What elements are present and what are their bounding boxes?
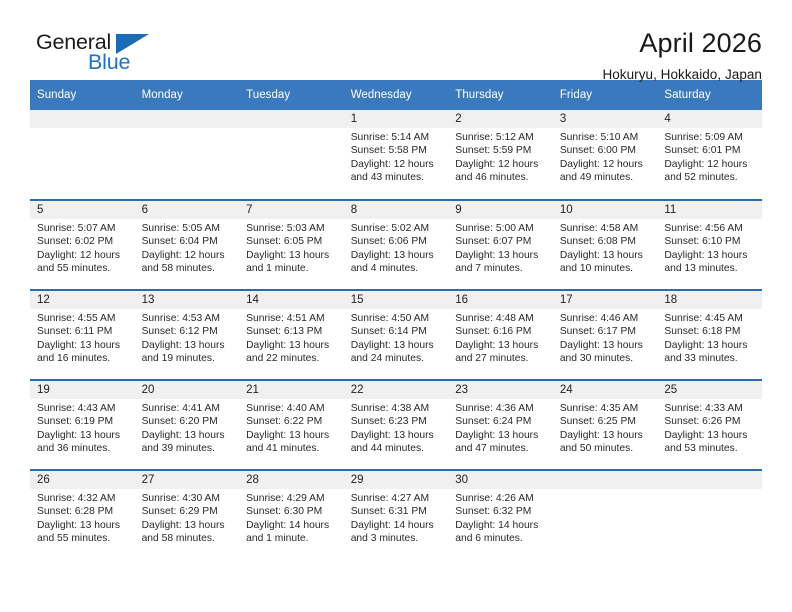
day-details: Sunrise: 4:36 AMSunset: 6:24 PMDaylight:… — [448, 399, 553, 456]
day-details: Sunrise: 4:32 AMSunset: 6:28 PMDaylight:… — [30, 489, 135, 546]
weekday-header-saturday: Saturday — [657, 80, 762, 110]
calendar-day-cell[interactable]: 29Sunrise: 4:27 AMSunset: 6:31 PMDayligh… — [344, 470, 449, 560]
daylight-text-line1: Daylight: 13 hours — [455, 429, 547, 442]
daylight-text-line2: and 10 minutes. — [560, 262, 652, 275]
calendar-week-row: 5Sunrise: 5:07 AMSunset: 6:02 PMDaylight… — [30, 200, 762, 290]
day-number: 10 — [553, 201, 658, 219]
sunrise-text: Sunrise: 4:53 AM — [142, 312, 234, 325]
daylight-text-line1: Daylight: 13 hours — [560, 339, 652, 352]
daylight-text-line2: and 19 minutes. — [142, 352, 234, 365]
sunrise-text: Sunrise: 4:29 AM — [246, 492, 338, 505]
daylight-text-line1: Daylight: 13 hours — [560, 429, 652, 442]
day-number: 19 — [30, 381, 135, 399]
day-number: 2 — [448, 110, 553, 128]
calendar-day-cell[interactable]: 26Sunrise: 4:32 AMSunset: 6:28 PMDayligh… — [30, 470, 135, 560]
daylight-text-line2: and 53 minutes. — [664, 442, 756, 455]
calendar-week-row: 19Sunrise: 4:43 AMSunset: 6:19 PMDayligh… — [30, 380, 762, 470]
daylight-text-line1: Daylight: 12 hours — [37, 249, 129, 262]
daylight-text-line2: and 58 minutes. — [142, 532, 234, 545]
day-number: 9 — [448, 201, 553, 219]
daylight-text-line1: Daylight: 13 hours — [246, 339, 338, 352]
sunset-text: Sunset: 6:05 PM — [246, 235, 338, 248]
daylight-text-line1: Daylight: 14 hours — [246, 519, 338, 532]
daylight-text-line2: and 58 minutes. — [142, 262, 234, 275]
day-number: 22 — [344, 381, 449, 399]
sunrise-text: Sunrise: 4:41 AM — [142, 402, 234, 415]
sunrise-text: Sunrise: 4:56 AM — [664, 222, 756, 235]
calendar-week-row: 12Sunrise: 4:55 AMSunset: 6:11 PMDayligh… — [30, 290, 762, 380]
daylight-text-line2: and 36 minutes. — [37, 442, 129, 455]
sunset-text: Sunset: 6:19 PM — [37, 415, 129, 428]
sunrise-text: Sunrise: 5:05 AM — [142, 222, 234, 235]
day-details: Sunrise: 5:00 AMSunset: 6:07 PMDaylight:… — [448, 219, 553, 276]
daylight-text-line2: and 24 minutes. — [351, 352, 443, 365]
weekday-header-wednesday: Wednesday — [344, 80, 449, 110]
day-details: Sunrise: 5:09 AMSunset: 6:01 PMDaylight:… — [657, 128, 762, 185]
sunrise-text: Sunrise: 5:02 AM — [351, 222, 443, 235]
day-number: 27 — [135, 471, 240, 489]
calendar-header-row: Sunday Monday Tuesday Wednesday Thursday… — [30, 80, 762, 110]
calendar-day-cell[interactable]: 8Sunrise: 5:02 AMSunset: 6:06 PMDaylight… — [344, 200, 449, 290]
daylight-text-line1: Daylight: 13 hours — [664, 339, 756, 352]
weekday-header-sunday: Sunday — [30, 80, 135, 110]
sunset-text: Sunset: 6:12 PM — [142, 325, 234, 338]
daylight-text-line2: and 3 minutes. — [351, 532, 443, 545]
day-details: Sunrise: 4:33 AMSunset: 6:26 PMDaylight:… — [657, 399, 762, 456]
sunset-text: Sunset: 5:59 PM — [455, 144, 547, 157]
daylight-text-line2: and 33 minutes. — [664, 352, 756, 365]
sunset-text: Sunset: 6:20 PM — [142, 415, 234, 428]
sunrise-text: Sunrise: 5:12 AM — [455, 131, 547, 144]
calendar-day-cell-empty — [239, 110, 344, 200]
calendar-day-cell-empty — [553, 470, 658, 560]
day-details: Sunrise: 4:30 AMSunset: 6:29 PMDaylight:… — [135, 489, 240, 546]
sunset-text: Sunset: 6:30 PM — [246, 505, 338, 518]
day-details: Sunrise: 4:27 AMSunset: 6:31 PMDaylight:… — [344, 489, 449, 546]
day-details: Sunrise: 4:51 AMSunset: 6:13 PMDaylight:… — [239, 309, 344, 366]
calendar-day-cell[interactable]: 9Sunrise: 5:00 AMSunset: 6:07 PMDaylight… — [448, 200, 553, 290]
calendar-day-cell[interactable]: 4Sunrise: 5:09 AMSunset: 6:01 PMDaylight… — [657, 110, 762, 200]
sunrise-text: Sunrise: 4:55 AM — [37, 312, 129, 325]
sunrise-text: Sunrise: 5:14 AM — [351, 131, 443, 144]
sunset-text: Sunset: 6:06 PM — [351, 235, 443, 248]
daylight-text-line1: Daylight: 13 hours — [664, 429, 756, 442]
sunset-text: Sunset: 6:04 PM — [142, 235, 234, 248]
daylight-text-line1: Daylight: 13 hours — [37, 429, 129, 442]
daylight-text-line1: Daylight: 13 hours — [142, 519, 234, 532]
daylight-text-line1: Daylight: 13 hours — [37, 519, 129, 532]
day-number: 13 — [135, 291, 240, 309]
day-details: Sunrise: 4:29 AMSunset: 6:30 PMDaylight:… — [239, 489, 344, 546]
sunrise-text: Sunrise: 4:48 AM — [455, 312, 547, 325]
calendar-day-cell[interactable]: 27Sunrise: 4:30 AMSunset: 6:29 PMDayligh… — [135, 470, 240, 560]
day-number: 6 — [135, 201, 240, 219]
day-details: Sunrise: 4:55 AMSunset: 6:11 PMDaylight:… — [30, 309, 135, 366]
daylight-text-line1: Daylight: 14 hours — [455, 519, 547, 532]
location-subtitle: Hokuryu, Hokkaido, Japan — [602, 67, 762, 82]
daylight-text-line1: Daylight: 12 hours — [455, 158, 547, 171]
sunset-text: Sunset: 6:01 PM — [664, 144, 756, 157]
daylight-text-line1: Daylight: 14 hours — [351, 519, 443, 532]
calendar-table: Sunday Monday Tuesday Wednesday Thursday… — [30, 80, 762, 560]
daylight-text-line2: and 44 minutes. — [351, 442, 443, 455]
day-details: Sunrise: 4:41 AMSunset: 6:20 PMDaylight:… — [135, 399, 240, 456]
weekday-header-friday: Friday — [553, 80, 658, 110]
calendar-day-cell[interactable]: 24Sunrise: 4:35 AMSunset: 6:25 PMDayligh… — [553, 380, 658, 470]
daylight-text-line1: Daylight: 13 hours — [455, 249, 547, 262]
daylight-text-line1: Daylight: 13 hours — [351, 339, 443, 352]
sunset-text: Sunset: 6:31 PM — [351, 505, 443, 518]
day-number: 30 — [448, 471, 553, 489]
day-details: Sunrise: 4:40 AMSunset: 6:22 PMDaylight:… — [239, 399, 344, 456]
calendar-day-cell[interactable]: 18Sunrise: 4:45 AMSunset: 6:18 PMDayligh… — [657, 290, 762, 380]
calendar-day-cell[interactable]: 10Sunrise: 4:58 AMSunset: 6:08 PMDayligh… — [553, 200, 658, 290]
calendar-week-row: 26Sunrise: 4:32 AMSunset: 6:28 PMDayligh… — [30, 470, 762, 560]
sunrise-text: Sunrise: 4:33 AM — [664, 402, 756, 415]
sunset-text: Sunset: 6:18 PM — [664, 325, 756, 338]
day-number: 26 — [30, 471, 135, 489]
day-number: 8 — [344, 201, 449, 219]
day-number: 29 — [344, 471, 449, 489]
daylight-text-line1: Daylight: 13 hours — [142, 339, 234, 352]
weekday-header-tuesday: Tuesday — [239, 80, 344, 110]
daylight-text-line1: Daylight: 12 hours — [560, 158, 652, 171]
sunrise-text: Sunrise: 5:03 AM — [246, 222, 338, 235]
sunset-text: Sunset: 6:26 PM — [664, 415, 756, 428]
day-number: 5 — [30, 201, 135, 219]
sunrise-text: Sunrise: 4:26 AM — [455, 492, 547, 505]
day-number: 21 — [239, 381, 344, 399]
sunset-text: Sunset: 6:14 PM — [351, 325, 443, 338]
calendar-day-cell-empty — [30, 110, 135, 200]
daylight-text-line1: Daylight: 13 hours — [246, 429, 338, 442]
daylight-text-line2: and 55 minutes. — [37, 262, 129, 275]
daylight-text-line2: and 50 minutes. — [560, 442, 652, 455]
day-number: 14 — [239, 291, 344, 309]
calendar-day-cell[interactable]: 12Sunrise: 4:55 AMSunset: 6:11 PMDayligh… — [30, 290, 135, 380]
calendar-day-cell[interactable]: 14Sunrise: 4:51 AMSunset: 6:13 PMDayligh… — [239, 290, 344, 380]
daylight-text-line2: and 27 minutes. — [455, 352, 547, 365]
daylight-text-line2: and 7 minutes. — [455, 262, 547, 275]
calendar-day-cell[interactable]: 13Sunrise: 4:53 AMSunset: 6:12 PMDayligh… — [135, 290, 240, 380]
daylight-text-line2: and 16 minutes. — [37, 352, 129, 365]
daylight-text-line2: and 4 minutes. — [351, 262, 443, 275]
calendar-day-cell[interactable]: 28Sunrise: 4:29 AMSunset: 6:30 PMDayligh… — [239, 470, 344, 560]
calendar-day-cell[interactable]: 23Sunrise: 4:36 AMSunset: 6:24 PMDayligh… — [448, 380, 553, 470]
day-number: 17 — [553, 291, 658, 309]
sunrise-text: Sunrise: 5:10 AM — [560, 131, 652, 144]
sunset-text: Sunset: 6:25 PM — [560, 415, 652, 428]
sunrise-text: Sunrise: 4:36 AM — [455, 402, 547, 415]
sunset-text: Sunset: 6:28 PM — [37, 505, 129, 518]
day-details: Sunrise: 4:45 AMSunset: 6:18 PMDaylight:… — [657, 309, 762, 366]
sunrise-text: Sunrise: 4:50 AM — [351, 312, 443, 325]
title-block: April 2026 Hokuryu, Hokkaido, Japan — [602, 28, 762, 82]
day-number: 1 — [344, 110, 449, 128]
day-number: 28 — [239, 471, 344, 489]
brand-name-blue: Blue — [88, 50, 130, 75]
daylight-text-line2: and 1 minute. — [246, 532, 338, 545]
day-number: 18 — [657, 291, 762, 309]
day-details: Sunrise: 4:53 AMSunset: 6:12 PMDaylight:… — [135, 309, 240, 366]
day-number — [553, 471, 658, 489]
sunset-text: Sunset: 6:32 PM — [455, 505, 547, 518]
sunset-text: Sunset: 6:16 PM — [455, 325, 547, 338]
day-details: Sunrise: 4:50 AMSunset: 6:14 PMDaylight:… — [344, 309, 449, 366]
day-number: 25 — [657, 381, 762, 399]
daylight-text-line1: Daylight: 12 hours — [664, 158, 756, 171]
sunrise-text: Sunrise: 4:38 AM — [351, 402, 443, 415]
calendar-week-row: 1Sunrise: 5:14 AMSunset: 5:58 PMDaylight… — [30, 110, 762, 200]
daylight-text-line1: Daylight: 13 hours — [664, 249, 756, 262]
daylight-text-line2: and 49 minutes. — [560, 171, 652, 184]
calendar-day-cell[interactable]: 21Sunrise: 4:40 AMSunset: 6:22 PMDayligh… — [239, 380, 344, 470]
calendar-day-cell[interactable]: 19Sunrise: 4:43 AMSunset: 6:19 PMDayligh… — [30, 380, 135, 470]
daylight-text-line1: Daylight: 12 hours — [351, 158, 443, 171]
sunrise-text: Sunrise: 4:40 AM — [246, 402, 338, 415]
daylight-text-line1: Daylight: 13 hours — [351, 429, 443, 442]
sunrise-text: Sunrise: 4:51 AM — [246, 312, 338, 325]
daylight-text-line2: and 47 minutes. — [455, 442, 547, 455]
day-details: Sunrise: 5:03 AMSunset: 6:05 PMDaylight:… — [239, 219, 344, 276]
day-details: Sunrise: 4:38 AMSunset: 6:23 PMDaylight:… — [344, 399, 449, 456]
calendar-day-cell[interactable]: 16Sunrise: 4:48 AMSunset: 6:16 PMDayligh… — [448, 290, 553, 380]
calendar-day-cell[interactable]: 1Sunrise: 5:14 AMSunset: 5:58 PMDaylight… — [344, 110, 449, 200]
calendar-day-cell[interactable]: 11Sunrise: 4:56 AMSunset: 6:10 PMDayligh… — [657, 200, 762, 290]
sunrise-text: Sunrise: 4:46 AM — [560, 312, 652, 325]
daylight-text-line2: and 30 minutes. — [560, 352, 652, 365]
daylight-text-line1: Daylight: 13 hours — [560, 249, 652, 262]
sunset-text: Sunset: 6:24 PM — [455, 415, 547, 428]
sunset-text: Sunset: 6:13 PM — [246, 325, 338, 338]
daylight-text-line2: and 1 minute. — [246, 262, 338, 275]
day-number: 7 — [239, 201, 344, 219]
day-number: 20 — [135, 381, 240, 399]
day-details: Sunrise: 4:58 AMSunset: 6:08 PMDaylight:… — [553, 219, 658, 276]
daylight-text-line1: Daylight: 13 hours — [142, 429, 234, 442]
daylight-text-line2: and 55 minutes. — [37, 532, 129, 545]
day-number: 24 — [553, 381, 658, 399]
sunset-text: Sunset: 5:58 PM — [351, 144, 443, 157]
weekday-header-monday: Monday — [135, 80, 240, 110]
daylight-text-line2: and 13 minutes. — [664, 262, 756, 275]
daylight-text-line2: and 41 minutes. — [246, 442, 338, 455]
page-title: April 2026 — [602, 28, 762, 58]
day-number: 4 — [657, 110, 762, 128]
day-number — [30, 110, 135, 128]
day-details: Sunrise: 4:26 AMSunset: 6:32 PMDaylight:… — [448, 489, 553, 546]
sunset-text: Sunset: 6:23 PM — [351, 415, 443, 428]
calendar-day-cell[interactable]: 2Sunrise: 5:12 AMSunset: 5:59 PMDaylight… — [448, 110, 553, 200]
day-details: Sunrise: 5:05 AMSunset: 6:04 PMDaylight:… — [135, 219, 240, 276]
sunrise-text: Sunrise: 4:30 AM — [142, 492, 234, 505]
calendar-day-cell[interactable]: 17Sunrise: 4:46 AMSunset: 6:17 PMDayligh… — [553, 290, 658, 380]
daylight-text-line1: Daylight: 13 hours — [37, 339, 129, 352]
sunrise-text: Sunrise: 4:45 AM — [664, 312, 756, 325]
day-number: 11 — [657, 201, 762, 219]
calendar-day-cell[interactable]: 3Sunrise: 5:10 AMSunset: 6:00 PMDaylight… — [553, 110, 658, 200]
sunrise-text: Sunrise: 5:09 AM — [664, 131, 756, 144]
day-number: 3 — [553, 110, 658, 128]
sunset-text: Sunset: 6:22 PM — [246, 415, 338, 428]
daylight-text-line2: and 43 minutes. — [351, 171, 443, 184]
day-details: Sunrise: 5:10 AMSunset: 6:00 PMDaylight:… — [553, 128, 658, 185]
sunrise-text: Sunrise: 4:27 AM — [351, 492, 443, 505]
daylight-text-line2: and 6 minutes. — [455, 532, 547, 545]
calendar-day-cell-empty — [657, 470, 762, 560]
page-header: General Blue April 2026 Hokuryu, Hokkaid… — [30, 0, 762, 68]
daylight-text-line1: Daylight: 13 hours — [246, 249, 338, 262]
day-details: Sunrise: 5:02 AMSunset: 6:06 PMDaylight:… — [344, 219, 449, 276]
day-details: Sunrise: 5:12 AMSunset: 5:59 PMDaylight:… — [448, 128, 553, 185]
daylight-text-line2: and 46 minutes. — [455, 171, 547, 184]
calendar-body: 1Sunrise: 5:14 AMSunset: 5:58 PMDaylight… — [30, 110, 762, 560]
calendar-day-cell[interactable]: 15Sunrise: 4:50 AMSunset: 6:14 PMDayligh… — [344, 290, 449, 380]
sunset-text: Sunset: 6:11 PM — [37, 325, 129, 338]
weekday-header-thursday: Thursday — [448, 80, 553, 110]
sunset-text: Sunset: 6:08 PM — [560, 235, 652, 248]
daylight-text-line1: Daylight: 13 hours — [455, 339, 547, 352]
day-number — [239, 110, 344, 128]
daylight-text-line1: Daylight: 12 hours — [142, 249, 234, 262]
sunset-text: Sunset: 6:00 PM — [560, 144, 652, 157]
calendar-day-cell[interactable]: 22Sunrise: 4:38 AMSunset: 6:23 PMDayligh… — [344, 380, 449, 470]
day-number: 16 — [448, 291, 553, 309]
sunset-text: Sunset: 6:02 PM — [37, 235, 129, 248]
daylight-text-line2: and 22 minutes. — [246, 352, 338, 365]
brand-logo[interactable]: General Blue — [30, 28, 160, 80]
day-number: 23 — [448, 381, 553, 399]
sunrise-text: Sunrise: 5:00 AM — [455, 222, 547, 235]
day-details: Sunrise: 4:35 AMSunset: 6:25 PMDaylight:… — [553, 399, 658, 456]
sunrise-text: Sunrise: 4:32 AM — [37, 492, 129, 505]
calendar-day-cell-empty — [135, 110, 240, 200]
day-details: Sunrise: 4:56 AMSunset: 6:10 PMDaylight:… — [657, 219, 762, 276]
calendar-day-cell[interactable]: 7Sunrise: 5:03 AMSunset: 6:05 PMDaylight… — [239, 200, 344, 290]
sunrise-text: Sunrise: 5:07 AM — [37, 222, 129, 235]
sunset-text: Sunset: 6:17 PM — [560, 325, 652, 338]
day-number — [135, 110, 240, 128]
daylight-text-line2: and 52 minutes. — [664, 171, 756, 184]
daylight-text-line1: Daylight: 13 hours — [351, 249, 443, 262]
day-details: Sunrise: 4:48 AMSunset: 6:16 PMDaylight:… — [448, 309, 553, 366]
calendar-container: Sunday Monday Tuesday Wednesday Thursday… — [30, 80, 762, 560]
sunset-text: Sunset: 6:29 PM — [142, 505, 234, 518]
sunset-text: Sunset: 6:10 PM — [664, 235, 756, 248]
calendar-day-cell[interactable]: 30Sunrise: 4:26 AMSunset: 6:32 PMDayligh… — [448, 470, 553, 560]
calendar-day-cell[interactable]: 20Sunrise: 4:41 AMSunset: 6:20 PMDayligh… — [135, 380, 240, 470]
day-details: Sunrise: 4:46 AMSunset: 6:17 PMDaylight:… — [553, 309, 658, 366]
calendar-day-cell[interactable]: 5Sunrise: 5:07 AMSunset: 6:02 PMDaylight… — [30, 200, 135, 290]
daylight-text-line2: and 39 minutes. — [142, 442, 234, 455]
day-number: 12 — [30, 291, 135, 309]
day-number: 15 — [344, 291, 449, 309]
sunrise-text: Sunrise: 4:58 AM — [560, 222, 652, 235]
day-details: Sunrise: 4:43 AMSunset: 6:19 PMDaylight:… — [30, 399, 135, 456]
calendar-day-cell[interactable]: 6Sunrise: 5:05 AMSunset: 6:04 PMDaylight… — [135, 200, 240, 290]
calendar-page: General Blue April 2026 Hokuryu, Hokkaid… — [0, 0, 792, 612]
day-details: Sunrise: 5:14 AMSunset: 5:58 PMDaylight:… — [344, 128, 449, 185]
sunrise-text: Sunrise: 4:35 AM — [560, 402, 652, 415]
day-number — [657, 471, 762, 489]
sunrise-text: Sunrise: 4:43 AM — [37, 402, 129, 415]
sunset-text: Sunset: 6:07 PM — [455, 235, 547, 248]
day-details: Sunrise: 5:07 AMSunset: 6:02 PMDaylight:… — [30, 219, 135, 276]
calendar-day-cell[interactable]: 25Sunrise: 4:33 AMSunset: 6:26 PMDayligh… — [657, 380, 762, 470]
